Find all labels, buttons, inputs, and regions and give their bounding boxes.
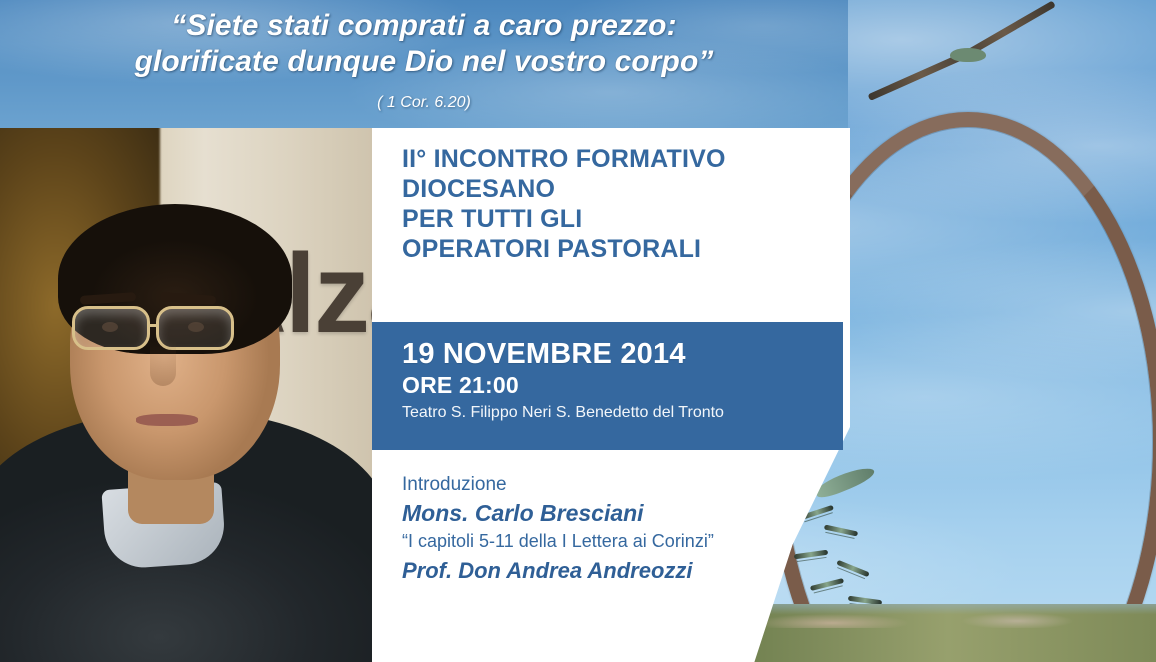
photo-eyeglass-bridge <box>150 324 158 327</box>
headline-line-1: II° INCONTRO FORMATIVO <box>402 128 850 174</box>
event-details-inner: 19 NOVEMBRE 2014 ORE 21:00 Teatro S. Fil… <box>372 322 843 425</box>
bird-sculpture-icon <box>872 8 1062 88</box>
quote-reference: ( 1 Cor. 6.20) <box>0 80 848 112</box>
headline-line-2: DIOCESANO <box>402 174 850 204</box>
headline-line-3: PER TUTTI GLI <box>402 204 850 234</box>
flock-bird <box>824 525 858 537</box>
speakers-block: Introduzione Mons. Carlo Bresciani “I ca… <box>402 472 822 586</box>
bird-body <box>950 48 986 62</box>
event-time: ORE 21:00 <box>402 371 843 399</box>
event-date: 19 NOVEMBRE 2014 <box>402 338 843 371</box>
intro-label: Introduzione <box>402 472 822 498</box>
quote-line-1: “Siete stati comprati a caro prezzo: <box>0 0 848 44</box>
headline-line-4: OPERATORI PASTORALI <box>402 234 850 264</box>
talk-topic: “I capitoli 5-11 della I Lettera ai Cori… <box>402 528 822 554</box>
flock-bird <box>836 560 869 577</box>
quote-line-2: glorificate dunque Dio nel vostro corpo” <box>0 44 848 80</box>
photo-mouth <box>136 414 198 426</box>
intro-speaker-name: Mons. Carlo Bresciani <box>402 498 822 528</box>
event-venue: Teatro S. Filippo Neri S. Benedetto del … <box>402 399 843 425</box>
topic-speaker-name: Prof. Don Andrea Andreozzi <box>402 554 822 586</box>
event-poster: “Siete stati comprati a caro prezzo: glo… <box>0 0 1156 662</box>
photo-eyeglass-left <box>72 306 150 350</box>
quote-banner: “Siete stati comprati a caro prezzo: glo… <box>0 0 848 128</box>
speaker-photo: Alza ti ch <box>0 128 372 662</box>
event-details-band: 19 NOVEMBRE 2014 ORE 21:00 Teatro S. Fil… <box>372 322 843 450</box>
photo-nose <box>150 340 176 386</box>
headline-block: II° INCONTRO FORMATIVO DIOCESANO PER TUT… <box>402 128 850 264</box>
